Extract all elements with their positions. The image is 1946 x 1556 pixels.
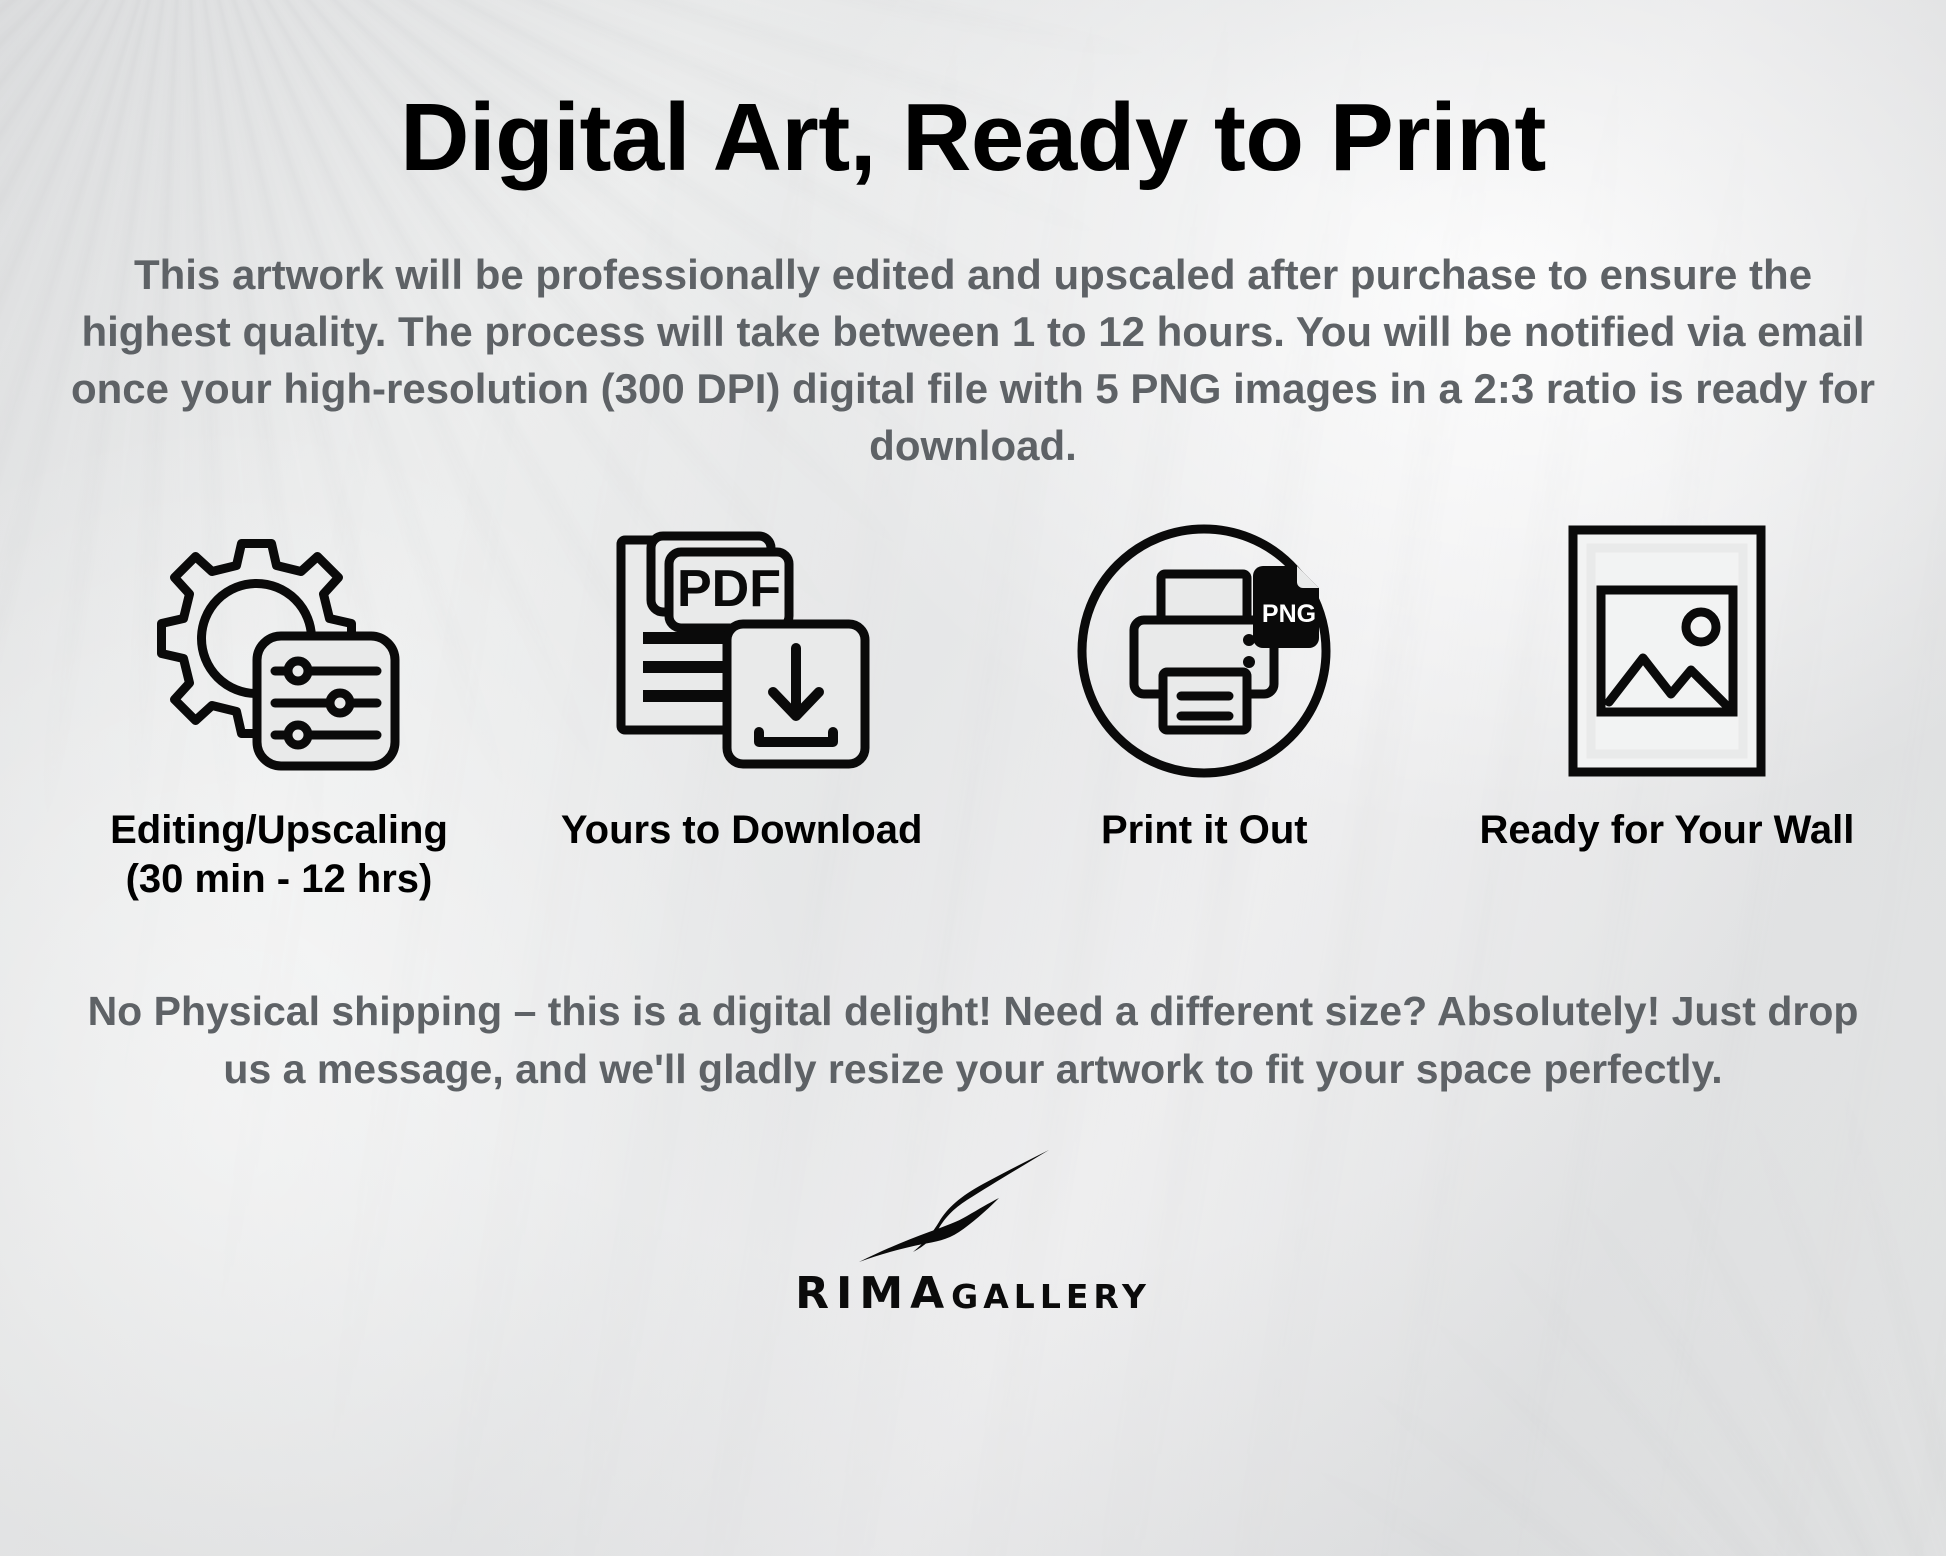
step-ready-for-your-wall: Ready for Your Wall bbox=[1452, 520, 1882, 855]
step-2-artwork: PDF bbox=[607, 520, 877, 782]
brand-wordmark: RIMA GALLERY bbox=[795, 1268, 1151, 1319]
intro-paragraph: This artwork will be professionally edit… bbox=[68, 246, 1878, 474]
step-4-label: Ready for Your Wall bbox=[1480, 806, 1855, 855]
pdf-download-icon: PDF bbox=[607, 526, 877, 776]
gear-sliders-icon bbox=[149, 526, 409, 776]
pdf-badge-text: PDF bbox=[677, 560, 781, 618]
outro-paragraph: No Physical shipping – this is a digital… bbox=[58, 982, 1888, 1098]
brand-name-secondary: GALLERY bbox=[951, 1277, 1151, 1316]
content-column: Digital Art, Ready to Print This artwork… bbox=[0, 0, 1946, 1556]
brand-name-primary: RIMA bbox=[795, 1268, 951, 1319]
printer-circle-icon: PNG bbox=[1073, 520, 1335, 782]
step-1-label: Editing/Upscaling (30 min - 12 hrs) bbox=[110, 806, 448, 904]
sliders-panel bbox=[257, 636, 395, 766]
step-yours-to-download: PDF Yours to Download bbox=[527, 520, 957, 855]
step-3-artwork: PNG bbox=[1073, 520, 1335, 782]
step-3-label: Print it Out bbox=[1101, 806, 1308, 855]
png-badge: PNG bbox=[1253, 566, 1319, 648]
step-1-artwork bbox=[149, 520, 409, 782]
step-2-label: Yours to Download bbox=[561, 806, 922, 855]
process-steps-row: Editing/Upscaling (30 min - 12 hrs) bbox=[46, 520, 1900, 904]
step-print-it-out: PNG Print it Out bbox=[989, 520, 1419, 855]
step-editing-upscaling: Editing/Upscaling (30 min - 12 hrs) bbox=[64, 520, 494, 904]
rima-wing-logo-icon bbox=[843, 1142, 1103, 1264]
framed-picture-icon bbox=[1567, 524, 1767, 778]
promo-graphic-root: Digital Art, Ready to Print This artwork… bbox=[0, 0, 1946, 1556]
step-4-artwork bbox=[1567, 520, 1767, 782]
png-badge-text: PNG bbox=[1262, 600, 1316, 628]
brand-lockup: RIMA GALLERY bbox=[46, 1142, 1900, 1319]
page-title: Digital Art, Ready to Print bbox=[46, 88, 1900, 188]
